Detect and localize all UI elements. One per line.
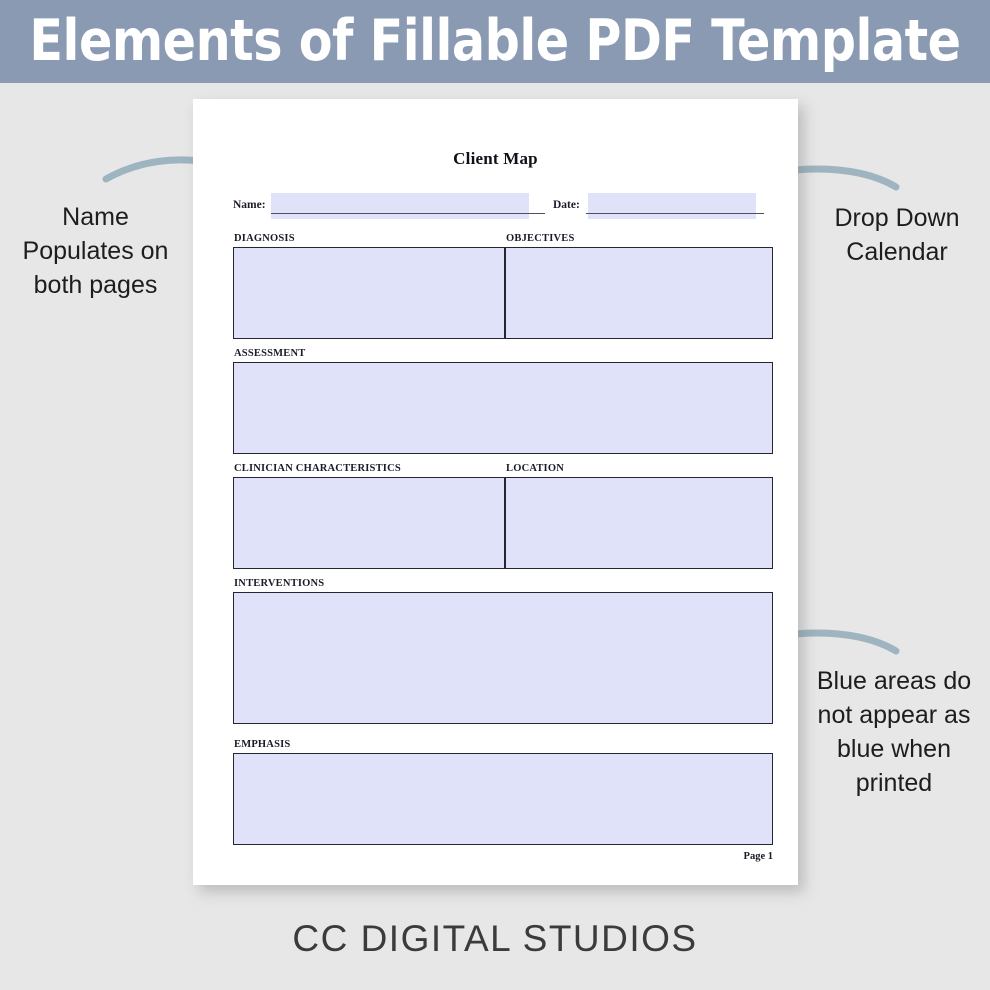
section-objectives: OBJECTIVES [505, 233, 773, 339]
date-underline [586, 213, 764, 214]
document-page-preview[interactable]: Client Map Name: Date: DIAGNOSIS OBJECTI… [193, 99, 798, 885]
section-emphasis: EMPHASIS [233, 739, 773, 847]
objectives-textarea[interactable] [505, 247, 773, 339]
name-input[interactable] [271, 193, 529, 219]
header-banner: Elements of Fillable PDF Template [0, 0, 990, 83]
section-label-clinician-characteristics: CLINICIAN CHARACTERISTICS [234, 463, 401, 474]
section-label-diagnosis: DIAGNOSIS [234, 233, 295, 244]
assessment-textarea[interactable] [233, 362, 773, 454]
annotation-drop-down-calendar: Drop Down Calendar [808, 201, 986, 269]
clinician-characteristics-textarea[interactable] [233, 477, 505, 569]
name-label: Name: [233, 199, 266, 211]
preview-stage: Name Populates on both pages Drop Down C… [0, 83, 990, 990]
section-label-objectives: OBJECTIVES [506, 233, 575, 244]
document-title: Client Map [193, 149, 798, 169]
diagnosis-textarea[interactable] [233, 247, 505, 339]
page-title: Elements of Fillable PDF Template [29, 13, 960, 70]
location-textarea[interactable] [505, 477, 773, 569]
section-location: LOCATION [505, 463, 773, 569]
annotation-name-populates: Name Populates on both pages [8, 200, 183, 302]
name-underline [271, 213, 545, 214]
section-clinician-characteristics: CLINICIAN CHARACTERISTICS [233, 463, 505, 569]
section-label-emphasis: EMPHASIS [234, 739, 290, 750]
date-label: Date: [553, 199, 580, 211]
section-label-location: LOCATION [506, 463, 564, 474]
brand-footer: CC DIGITAL STUDIOS [0, 918, 990, 960]
emphasis-textarea[interactable] [233, 753, 773, 845]
section-assessment: ASSESSMENT [233, 348, 773, 454]
name-date-row: Name: Date: [233, 193, 761, 219]
date-input-dropdown-calendar[interactable] [588, 193, 756, 219]
page-number-label: Page 1 [233, 851, 773, 862]
section-diagnosis: DIAGNOSIS [233, 233, 505, 339]
interventions-textarea[interactable] [233, 592, 773, 724]
annotation-blue-areas: Blue areas do not appear as blue when pr… [798, 664, 990, 800]
section-label-assessment: ASSESSMENT [234, 348, 305, 359]
section-interventions: INTERVENTIONS [233, 578, 773, 724]
section-label-interventions: INTERVENTIONS [234, 578, 324, 589]
